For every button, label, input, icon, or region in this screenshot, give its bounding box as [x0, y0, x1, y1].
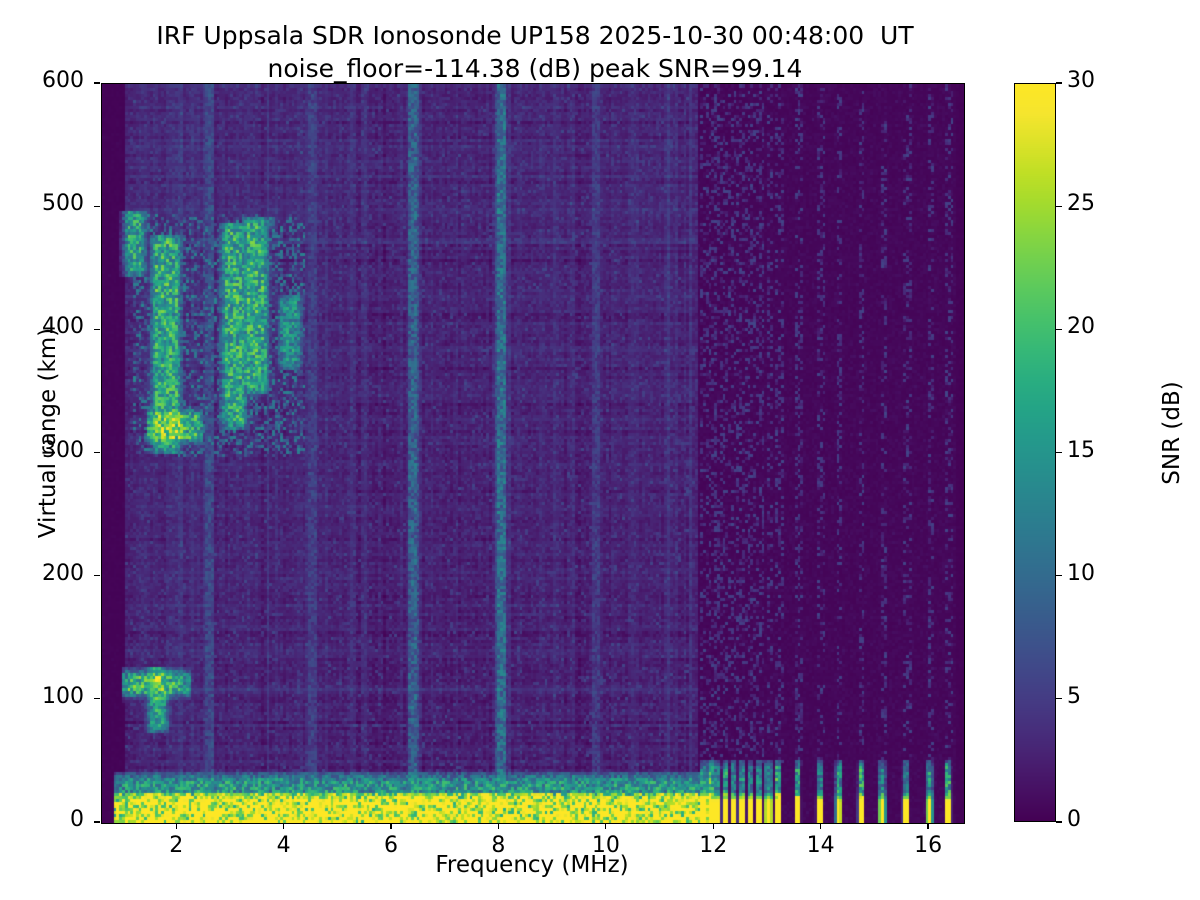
colorbar-tick-label: 25: [1067, 191, 1095, 216]
colorbar-tick-label: 10: [1067, 561, 1095, 586]
title-line-2: noise_floor=-114.38 (dB) peak SNR=99.14: [0, 53, 1070, 86]
y-tick-label: 0: [4, 807, 84, 832]
colorbar-tick-mark: [1056, 329, 1062, 330]
figure-title: IRF Uppsala SDR Ionosonde UP158 2025-10-…: [0, 20, 1070, 85]
colorbar-tick-label: 15: [1067, 438, 1095, 463]
colorbar-tick-label: 5: [1067, 684, 1081, 709]
y-tick-mark: [94, 452, 100, 453]
x-tick-mark: [820, 823, 821, 829]
colorbar-tick-mark: [1056, 206, 1062, 207]
title-line-1: IRF Uppsala SDR Ionosonde UP158 2025-10-…: [0, 20, 1070, 53]
ionogram-axes: [101, 83, 965, 824]
colorbar-tick-mark: [1056, 821, 1062, 822]
colorbar-gradient: [1014, 83, 1056, 822]
x-tick-mark: [713, 823, 714, 829]
x-tick-mark: [390, 823, 391, 829]
x-tick-mark: [283, 823, 284, 829]
x-tick-mark: [176, 823, 177, 829]
colorbar-tick-label: 30: [1067, 68, 1095, 93]
y-tick-mark: [94, 698, 100, 699]
x-axis-label: Frequency (MHz): [101, 852, 963, 878]
y-tick-label: 100: [4, 684, 84, 709]
colorbar-tick-mark: [1056, 82, 1062, 83]
colorbar: [1014, 83, 1056, 822]
colorbar-tick-mark: [1056, 575, 1062, 576]
y-tick-mark: [94, 329, 100, 330]
ionogram-heatmap: [102, 84, 964, 823]
y-tick-label: 500: [4, 191, 84, 216]
y-tick-label: 600: [4, 68, 84, 93]
y-tick-mark: [94, 575, 100, 576]
colorbar-tick-label: 0: [1067, 807, 1081, 832]
colorbar-tick-mark: [1056, 698, 1062, 699]
y-tick-mark: [94, 82, 100, 83]
colorbar-tick-label: 20: [1067, 314, 1095, 339]
y-tick-mark: [94, 821, 100, 822]
ionogram-figure: IRF Uppsala SDR Ionosonde UP158 2025-10-…: [0, 0, 1200, 900]
y-tick-mark: [94, 206, 100, 207]
x-tick-mark: [498, 823, 499, 829]
x-tick-mark: [927, 823, 928, 829]
colorbar-label: SNR (dB): [1159, 223, 1185, 643]
x-tick-mark: [605, 823, 606, 829]
y-axis-label: Virtual range (km): [35, 223, 61, 643]
colorbar-tick-mark: [1056, 452, 1062, 453]
